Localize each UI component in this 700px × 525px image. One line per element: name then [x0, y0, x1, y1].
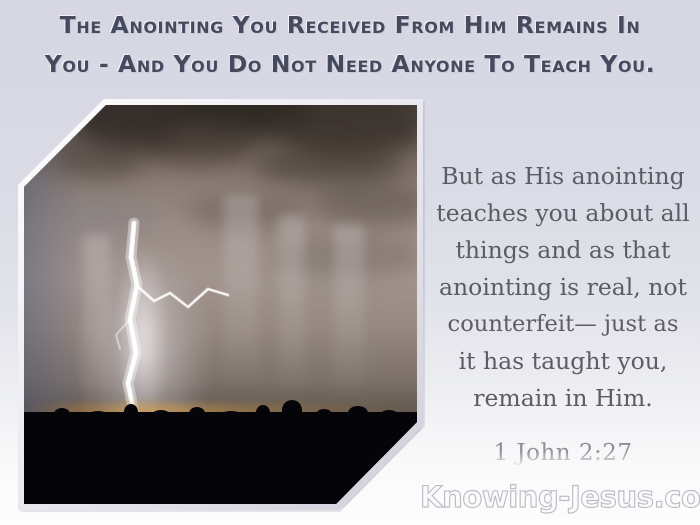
tree-silhouette	[88, 411, 108, 420]
tree-silhouette	[282, 400, 302, 420]
verse-line: But as His anointing	[432, 158, 694, 195]
verse-line: anointing is real, not	[432, 269, 694, 306]
verse-line: things and as that	[432, 232, 694, 269]
verse-text: But as His anointing teaches you about a…	[432, 158, 694, 417]
storm-cloud	[144, 123, 254, 163]
rain-streak	[334, 225, 364, 405]
tree-silhouette	[189, 407, 205, 420]
verse-line: remain in Him.	[432, 380, 694, 417]
tree-silhouette	[124, 404, 138, 420]
tree-silhouette	[256, 405, 270, 420]
storm-cloud	[254, 145, 404, 187]
tree-silhouette	[380, 410, 398, 420]
photo-image-area	[24, 105, 417, 504]
site-watermark: Knowing-Jesus.com	[420, 480, 688, 514]
verse-line: teaches you about all	[432, 195, 694, 232]
tree-silhouette	[152, 410, 170, 420]
tree-silhouette	[54, 408, 70, 420]
tree-silhouette	[316, 409, 332, 420]
scripture-image-canvas: The Anointing You Received From Him Rema…	[0, 0, 700, 525]
storm-cloud	[54, 139, 144, 179]
rain-streak	[279, 215, 305, 405]
verse-citation: 1 John 2:27	[432, 440, 694, 466]
tree-silhouette	[348, 406, 368, 420]
tree-silhouette	[220, 411, 242, 420]
verse-line: counterfeit— just as	[432, 306, 694, 343]
headline-line-1: The Anointing You Received From Him Rema…	[0, 6, 700, 45]
lightning-storm-photo	[18, 99, 423, 510]
page-title: The Anointing You Received From Him Rema…	[0, 6, 700, 84]
headline-line-2: You - And You Do Not Need Anyone To Teac…	[0, 45, 700, 84]
verse-line: it has taught you,	[432, 343, 694, 380]
